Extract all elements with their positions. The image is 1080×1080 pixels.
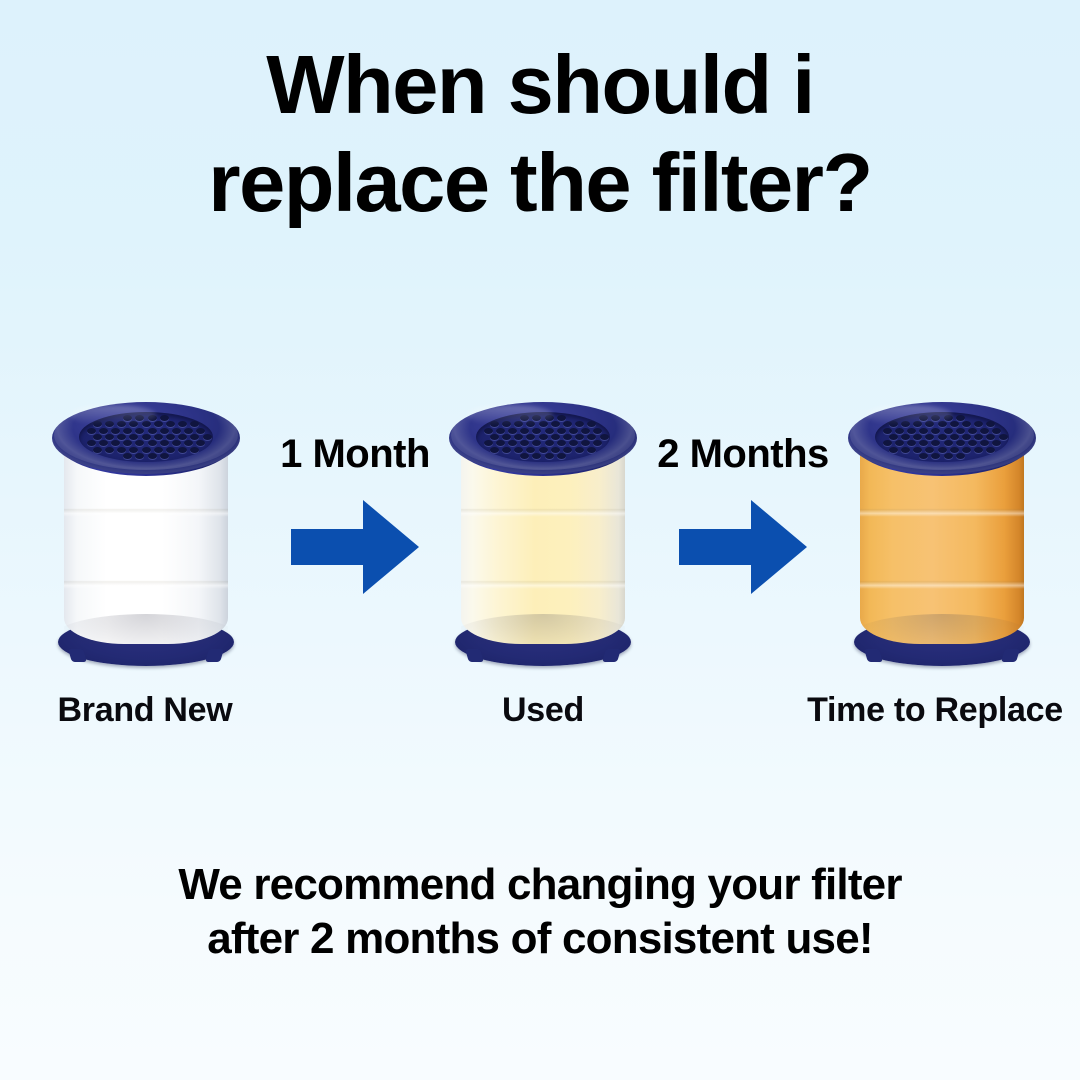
- filter-cap-icon: [848, 398, 1036, 482]
- caption-used: Used: [410, 690, 676, 730]
- timeline-step-2: 2 Months: [638, 430, 848, 594]
- filter-cartridge-brand-new: [46, 398, 246, 668]
- filter-bottom-shade: [64, 614, 228, 644]
- filter-cap-gloss: [70, 405, 156, 425]
- recommendation-text: We recommend changing your filter after …: [0, 858, 1080, 966]
- filter-cartridge-used: [443, 398, 643, 668]
- arrow-right-icon: [679, 500, 807, 594]
- recommendation-line-2: after 2 months of consistent use!: [0, 912, 1080, 966]
- filter-cap-icon: [449, 398, 637, 482]
- caption-time-to-replace: Time to Replace: [790, 690, 1080, 730]
- filter-cap-icon: [52, 398, 240, 482]
- arrow-right-icon: [291, 500, 419, 594]
- caption-brand-new: Brand New: [0, 690, 290, 730]
- step-label-1-month: 1 Month: [250, 430, 460, 478]
- step-label-2-months: 2 Months: [638, 430, 848, 478]
- filter-bottom-shade: [860, 614, 1024, 644]
- filter-cartridge-replace: [842, 398, 1042, 668]
- infographic-poster: When should i replace the filter?: [0, 0, 1080, 1080]
- recommendation-line-1: We recommend changing your filter: [0, 858, 1080, 912]
- filter-bottom-shade: [461, 614, 625, 644]
- filter-cap-gloss: [866, 405, 952, 425]
- filter-cap-gloss: [467, 405, 553, 425]
- timeline-step-1: 1 Month: [250, 430, 460, 594]
